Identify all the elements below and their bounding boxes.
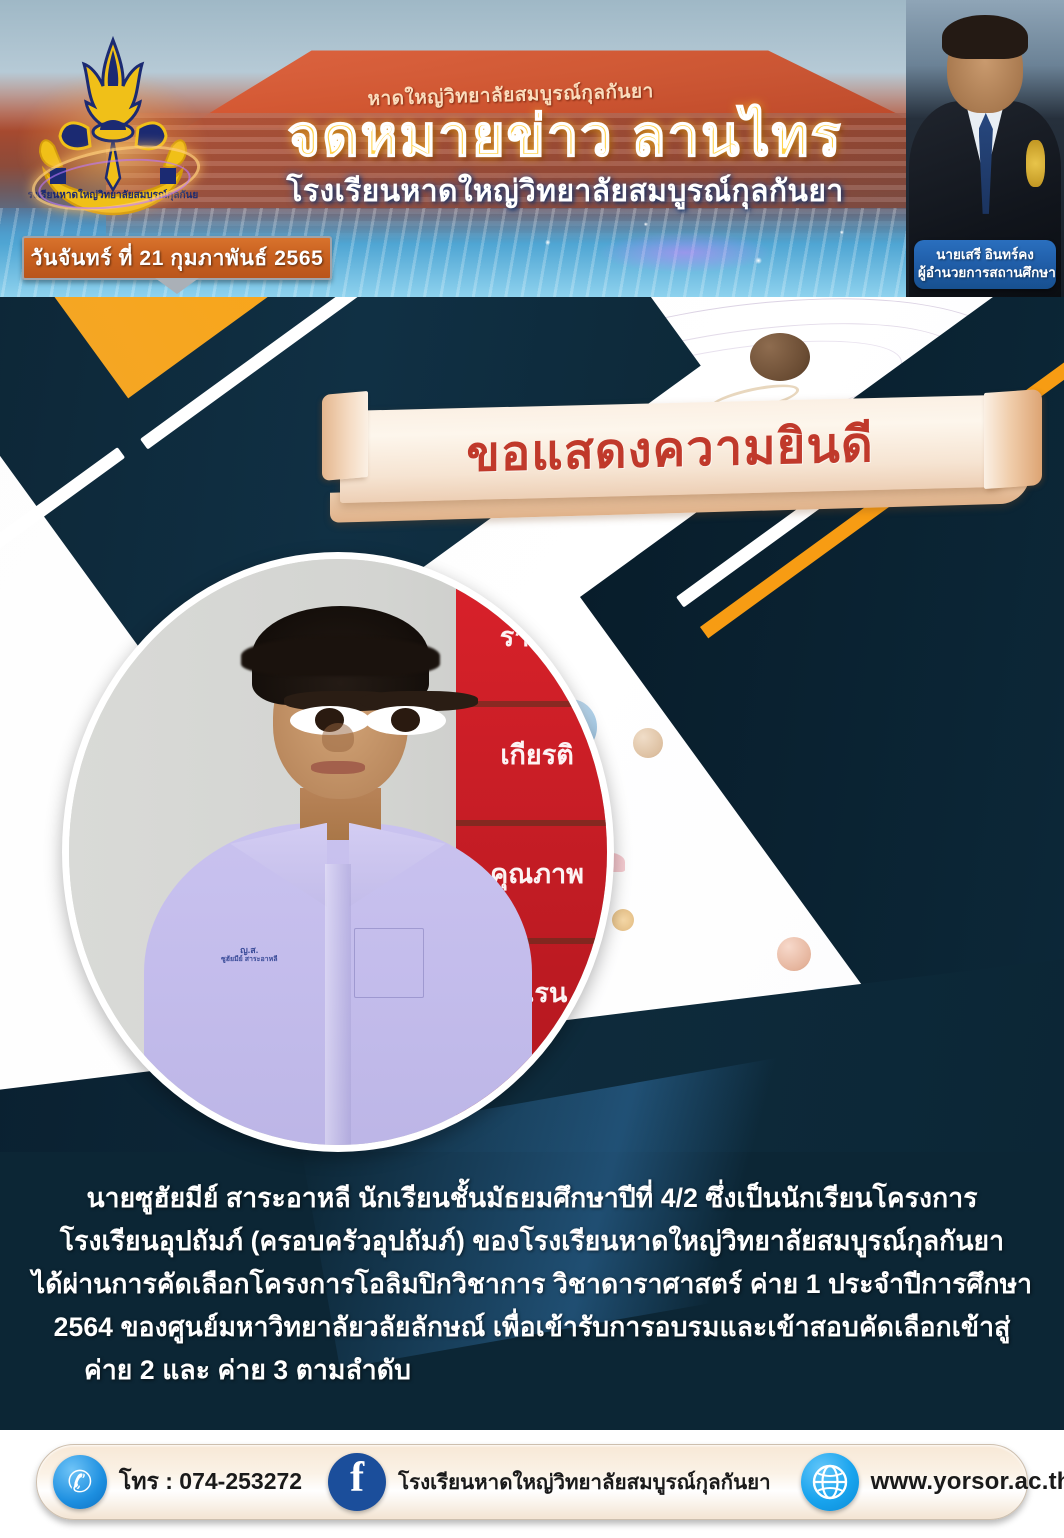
- planet-icon-comet: [612, 909, 634, 931]
- page-footer: ✆ โทร : 074-253272 f โรงเรียนหาดใหญ่วิทย…: [0, 1430, 1064, 1538]
- director-lapel-pin-icon: [1026, 140, 1045, 188]
- poster-body: ขอแสดงความยินดี รางวัล เกียรติ คุณภาพ นเ…: [0, 297, 1064, 1430]
- school-emblem: โรงเรียนหาดใหญ่วิทยาลัยสมบูรณ์กุลกันยา: [28, 28, 198, 228]
- photo-banner-bar-2: [456, 820, 614, 826]
- date-badge-text: วันจันทร์ ที่ 21 กุมภาพันธ์ 2565: [31, 242, 324, 275]
- photo-banner-bar-1: [456, 701, 614, 707]
- student-shirt-badge: ญ.ส. ซูฮัยมีย์ สาระอาหลี: [214, 946, 284, 987]
- newsletter-title: จดหมายข่าว ลานไทร: [235, 108, 895, 164]
- student-shirt-pocket: [354, 928, 424, 998]
- student-badge-line1: ญ.ส.: [214, 946, 284, 956]
- planet-icon-rose: [777, 937, 811, 971]
- footer-facebook-label[interactable]: โรงเรียนหาดใหญ่วิทยาลัยสมบูรณ์กุลกันยา: [398, 1466, 771, 1499]
- student-shirt-placket: [325, 864, 352, 1152]
- article-line-4: 2564 ของศูนย์มหาวิทยาลัยวลัยลักษณ์ เพื่อ…: [28, 1306, 1036, 1349]
- article-line-2: โรงเรียนอุปถัมภ์ (ครอบครัวอุปถัมภ์) ของโ…: [28, 1220, 1036, 1263]
- article-line-5: ค่าย 2 และ ค่าย 3 ตามลำดับ: [28, 1349, 1036, 1392]
- footer-website-item[interactable]: www.yorsor.ac.th: [771, 1453, 1064, 1511]
- facebook-icon[interactable]: f: [328, 1453, 386, 1511]
- globe-icon[interactable]: [801, 1453, 859, 1511]
- school-subtitle: โรงเรียนหาดใหญ่วิทยาลัยสมบูรณ์กุลกันยา: [235, 168, 895, 215]
- page-header: หาดใหญ่วิทยาลัยสมบูรณ์กุลกันยา โรงเรียนห…: [0, 0, 1064, 297]
- footer-website-label[interactable]: www.yorsor.ac.th: [871, 1468, 1064, 1496]
- newsletter-title-block: จดหมายข่าว ลานไทร โรงเรียนหาดใหญ่วิทยาลั…: [235, 108, 895, 215]
- footer-contact-bar: ✆ โทร : 074-253272 f โรงเรียนหาดใหญ่วิทย…: [36, 1444, 1028, 1520]
- student-mouth: [311, 761, 365, 774]
- planet-icon-small-tan: [633, 728, 663, 758]
- student-eye-right: [365, 706, 446, 735]
- footer-phone-item: ✆ โทร : 074-253272: [37, 1455, 302, 1509]
- congratulations-text: ขอแสดงความยินดี: [340, 395, 1000, 503]
- director-position: ผู้อำนวยการสถานศึกษา: [918, 264, 1052, 282]
- footer-phone-label: โทร : 074-253272: [119, 1464, 302, 1500]
- article-line-1: นายซูฮัยมีย์ สาระอาหลี นักเรียนชั้นมัธยม…: [28, 1177, 1036, 1220]
- footer-facebook-item[interactable]: f โรงเรียนหาดใหญ่วิทยาลัยสมบูรณ์กุลกันยา: [302, 1453, 771, 1511]
- director-name: นายเสรี อินทร์คง: [918, 246, 1052, 264]
- director-name-plate: นายเสรี อินทร์คง ผู้อำนวยการสถานศึกษา: [914, 240, 1056, 289]
- photo-banner-line-2: เกียรติ: [456, 733, 614, 776]
- planet-icon-jupiter: [750, 333, 810, 381]
- student-badge-line2: ซูฮัยมีย์ สาระอาหลี: [214, 956, 284, 964]
- date-badge: วันจันทร์ ที่ 21 กุมภาพันธ์ 2565: [22, 236, 332, 280]
- student-nose: [322, 723, 354, 752]
- congratulations-banner: ขอแสดงความยินดี: [322, 387, 1042, 527]
- director-hair: [942, 15, 1027, 60]
- photo-banner-line-1: รางวัล: [456, 615, 614, 658]
- article-text: นายซูฮัยมีย์ สาระอาหลี นักเรียนชั้นมัธยม…: [0, 1177, 1064, 1392]
- phone-icon: ✆: [53, 1455, 107, 1509]
- article-line-3: ได้ผ่านการคัดเลือกโครงการโอลิมปิกวิชาการ…: [28, 1263, 1036, 1306]
- student-photo: รางวัล เกียรติ คุณภาพ นเรน ญ.ส. ซูฮัยมีย…: [62, 552, 614, 1152]
